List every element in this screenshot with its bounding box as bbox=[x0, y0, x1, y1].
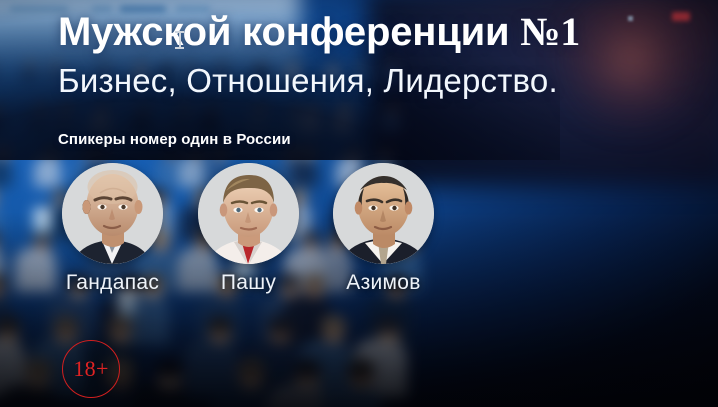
avatar bbox=[333, 163, 434, 264]
speaker-card[interactable]: Азимов bbox=[333, 163, 434, 264]
speakers-kicker: Спикеры номер один в России bbox=[58, 131, 291, 148]
page-title: Мужской конференции №1 bbox=[58, 8, 580, 55]
speaker-card[interactable]: Пашу bbox=[198, 163, 299, 264]
text-ibeam-cursor bbox=[175, 30, 184, 50]
page-subtitle: Бизнес, Отношения, Лидерство. bbox=[58, 62, 558, 100]
hero-banner: Мужской конференции №1 Бизнес, Отношения… bbox=[0, 0, 718, 407]
age-badge-label: 18+ bbox=[73, 356, 108, 382]
speaker-name: Пашу bbox=[176, 271, 321, 295]
avatar bbox=[198, 163, 299, 264]
speaker-portrait-icon bbox=[333, 163, 434, 264]
speaker-portrait-icon bbox=[62, 163, 163, 264]
speaker-name: Азимов bbox=[311, 271, 456, 295]
status-badge: 18+ bbox=[62, 340, 120, 398]
speaker-card[interactable]: Гандапас bbox=[62, 163, 163, 264]
speaker-name: Гандапас bbox=[40, 271, 185, 295]
avatar bbox=[62, 163, 163, 264]
page-title-text: Мужской конференции bbox=[58, 10, 520, 54]
page-title-number: №1 bbox=[520, 9, 580, 54]
speaker-portrait-icon bbox=[198, 163, 299, 264]
